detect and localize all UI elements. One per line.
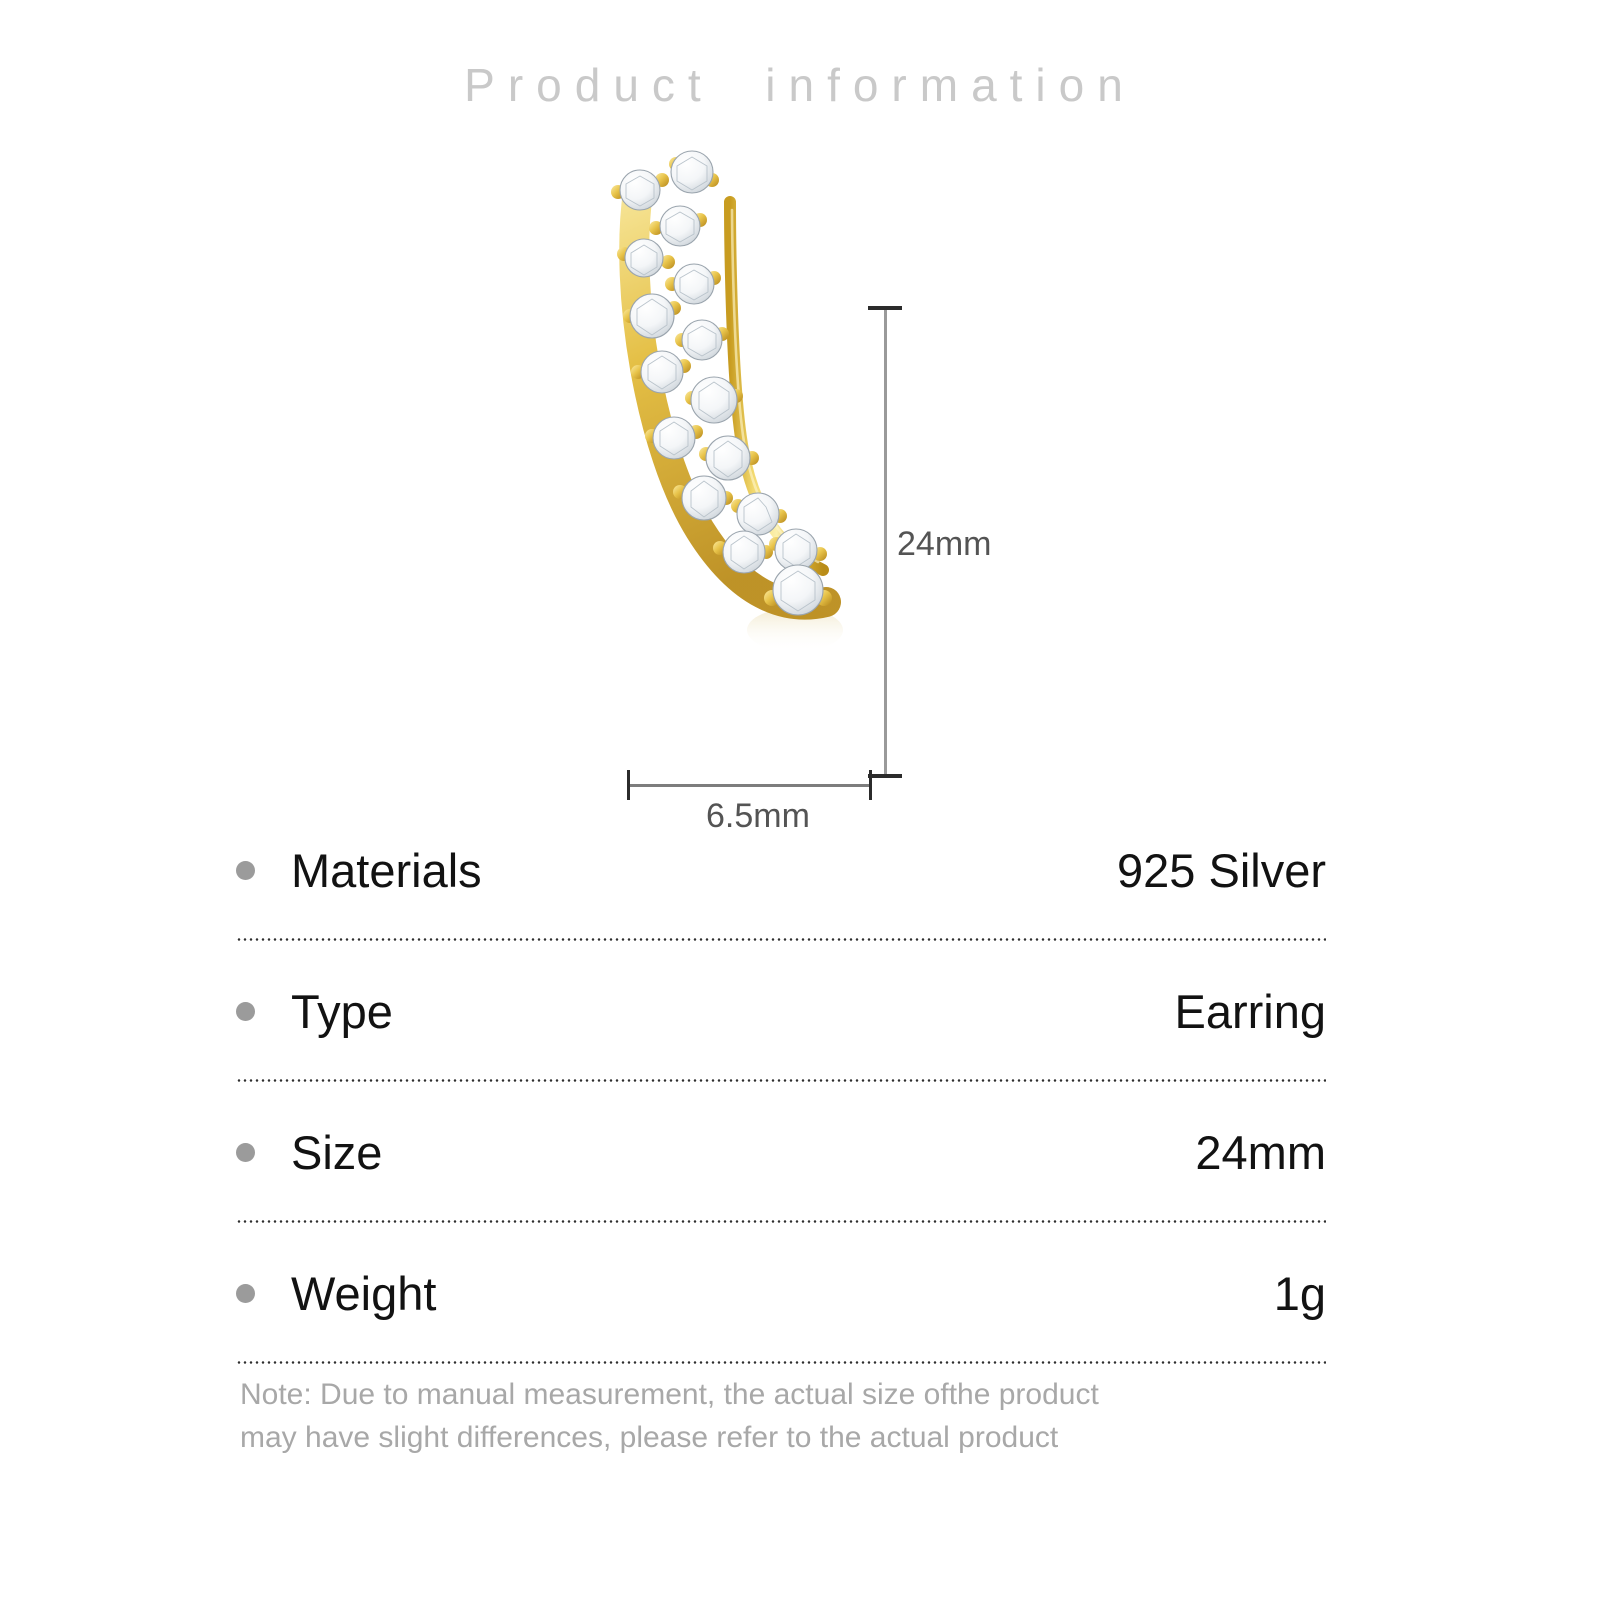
height-dimension-cap-top bbox=[868, 306, 902, 310]
spec-value-materials: 925 Silver bbox=[1117, 847, 1326, 894]
measurement-note-line-1: Note: Due to manual measurement, the act… bbox=[240, 1374, 1330, 1417]
spec-value-size: 24mm bbox=[1195, 1129, 1326, 1176]
earring-illustration bbox=[580, 150, 920, 670]
table-row: Weight 1g bbox=[236, 1223, 1326, 1364]
spec-value-weight: 1g bbox=[1274, 1270, 1326, 1317]
bullet-icon bbox=[236, 1143, 255, 1162]
measurement-note-line-2: may have slight differences, please refe… bbox=[240, 1417, 1330, 1460]
bullet-icon bbox=[236, 1284, 255, 1303]
height-dimension-line bbox=[884, 310, 887, 775]
width-dimension-cap-left bbox=[627, 770, 630, 800]
product-figure: 24mm 6.5mm bbox=[0, 140, 1600, 700]
spec-label-weight: Weight bbox=[291, 1270, 436, 1317]
height-dimension-cap-bottom bbox=[868, 774, 902, 778]
table-row: Materials 925 Silver bbox=[236, 800, 1326, 941]
bullet-icon bbox=[236, 1002, 255, 1021]
table-row: Type Earring bbox=[236, 941, 1326, 1082]
spec-value-type: Earring bbox=[1174, 988, 1326, 1035]
spec-label-type: Type bbox=[291, 988, 393, 1035]
table-row: Size 24mm bbox=[236, 1082, 1326, 1223]
width-dimension-cap-right bbox=[869, 770, 872, 800]
spec-label-group: Size bbox=[236, 1129, 1195, 1176]
spec-label-group: Materials bbox=[236, 847, 1117, 894]
spec-label-group: Weight bbox=[236, 1270, 1274, 1317]
height-dimension-label: 24mm bbox=[897, 525, 991, 564]
bullet-icon bbox=[236, 861, 255, 880]
spec-label-group: Type bbox=[236, 988, 1174, 1035]
spec-table: Materials 925 Silver Type Earring Size 2… bbox=[236, 800, 1326, 1364]
width-dimension-line bbox=[628, 784, 871, 787]
spec-label-size: Size bbox=[291, 1129, 382, 1176]
page-title: Product information bbox=[0, 58, 1600, 112]
row-separator bbox=[236, 1361, 1326, 1364]
measurement-note: Note: Due to manual measurement, the act… bbox=[240, 1374, 1330, 1459]
spec-label-materials: Materials bbox=[291, 847, 482, 894]
